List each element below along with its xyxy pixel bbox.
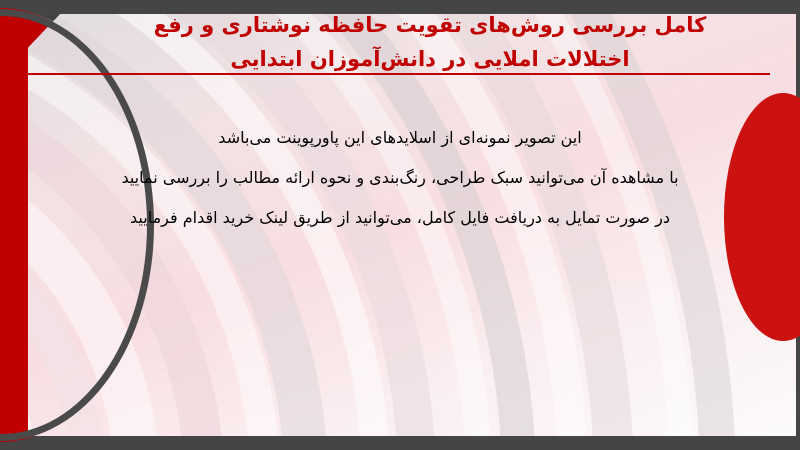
slide-content: کامل بررسی روش‌های تقویت حافظه نوشتاری و… <box>0 0 800 450</box>
slide-title-line-2: اختلالات املایی در دانش‌آموزان ابتدایی <box>120 42 740 76</box>
slide-body-text: این تصویر نمونه‌ای از اسلایدهای این پاور… <box>80 118 720 238</box>
slide-body-line-3: در صورت تمایل به دریافت فایل کامل، می‌تو… <box>80 198 720 238</box>
slide-title: کامل بررسی روش‌های تقویت حافظه نوشتاری و… <box>120 8 740 76</box>
slide-body-line-1: این تصویر نمونه‌ای از اسلایدهای این پاور… <box>80 118 720 158</box>
presentation-slide: کامل بررسی روش‌های تقویت حافظه نوشتاری و… <box>0 0 800 450</box>
slide-title-line-1: کامل بررسی روش‌های تقویت حافظه نوشتاری و… <box>120 8 740 42</box>
slide-title-underline <box>25 73 770 75</box>
slide-body-line-2: با مشاهده آن می‌توانید سبک طراحی، رنگ‌بن… <box>80 158 720 198</box>
